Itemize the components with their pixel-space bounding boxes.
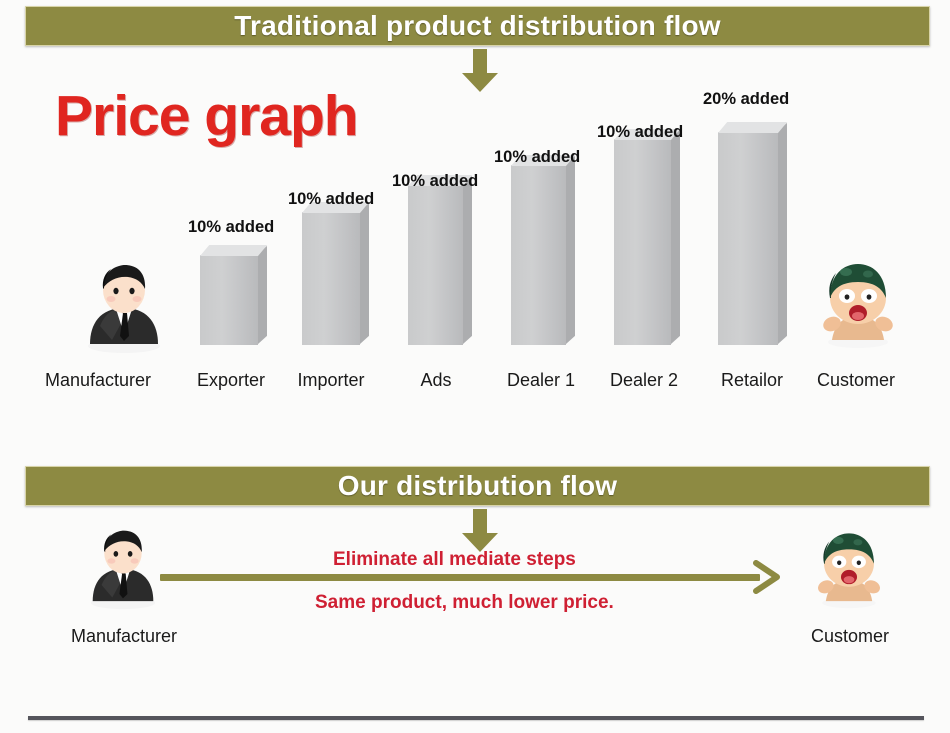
category-label-exporter: Exporter: [187, 370, 275, 391]
bar-exporter: [200, 245, 258, 345]
customer-avatar: [812, 258, 904, 355]
bar-front-face: [408, 185, 463, 345]
banner-traditional-flow-text: Traditional product distribution flow: [234, 10, 720, 42]
bar-annotation-exporter: 10% added: [188, 218, 274, 237]
bar-dealer-2: [614, 129, 671, 345]
bar-front-face: [200, 255, 258, 345]
category-label-dealer-2: Dealer 2: [603, 370, 685, 391]
bar-front-face: [718, 132, 778, 345]
bar-annotation-ads: 10% added: [392, 172, 478, 191]
bar-ads: [408, 175, 463, 345]
flow-arrow-line: [160, 574, 760, 581]
bar-side-face: [258, 246, 267, 344]
manufacturer-avatar-lower: [82, 528, 164, 615]
banner-our-flow-text: Our distribution flow: [338, 470, 618, 502]
bar-side-face: [360, 203, 369, 344]
bar-side-face: [463, 176, 472, 344]
flow-arrowhead-icon: [752, 560, 782, 594]
category-label-customer: Customer: [806, 370, 906, 391]
category-label-retailor: Retailor: [711, 370, 793, 391]
bar-top-face: [718, 122, 787, 133]
lower-category-label-manufacturer: Manufacturer: [58, 626, 190, 647]
down-arrow-icon-bottom: [461, 509, 499, 553]
bar-top-face: [200, 245, 267, 256]
flow-message-same-product: Same product, much lower price.: [315, 592, 614, 614]
bar-side-face: [671, 130, 680, 344]
customer-avatar-lower: [808, 528, 890, 615]
bar-importer: [302, 202, 360, 345]
banner-our-flow: Our distribution flow: [25, 466, 930, 506]
lower-category-label-customer: Customer: [800, 626, 900, 647]
page-title-price-graph: Price graph: [55, 83, 358, 149]
bar-annotation-dealer-2: 10% added: [597, 123, 683, 142]
bar-side-face: [566, 156, 575, 344]
bar-front-face: [302, 212, 360, 345]
category-label-ads: Ads: [406, 370, 466, 391]
bar-annotation-retailor: 20% added: [703, 90, 789, 109]
bar-front-face: [511, 165, 566, 345]
category-label-manufacturer: Manufacturer: [32, 370, 164, 391]
banner-traditional-flow: Traditional product distribution flow: [25, 6, 930, 46]
bar-side-face: [778, 123, 787, 344]
down-arrow-icon-top: [461, 49, 499, 93]
bar-annotation-importer: 10% added: [288, 190, 374, 209]
bar-dealer-1: [511, 155, 566, 345]
flow-message-eliminate: Eliminate all mediate steps: [333, 549, 576, 571]
category-label-dealer-1: Dealer 1: [500, 370, 582, 391]
manufacturer-avatar: [78, 262, 170, 359]
footer-divider: [28, 716, 924, 720]
bar-annotation-dealer-1: 10% added: [494, 148, 580, 167]
bar-retailor: [718, 122, 778, 345]
category-label-importer: Importer: [289, 370, 373, 391]
bar-front-face: [614, 139, 671, 345]
infographic-page: Traditional product distribution flow Pr…: [0, 0, 950, 733]
